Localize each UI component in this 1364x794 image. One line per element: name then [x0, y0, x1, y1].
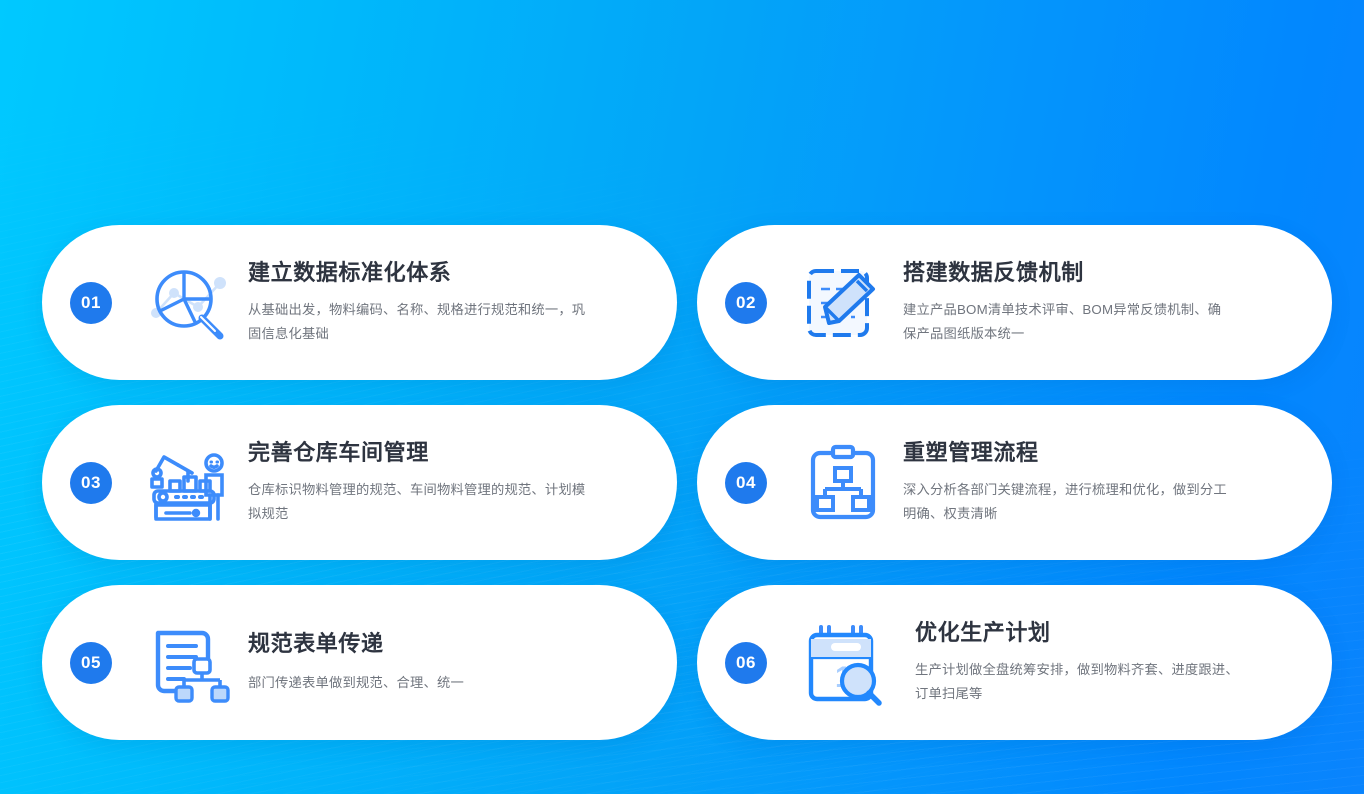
service-card-grid: 01 建立数据标准化体系 从基础出发，物料编码、 — [42, 225, 1332, 740]
service-card-01[interactable]: 01 建立数据标准化体系 从基础出发，物料编码、 — [42, 225, 677, 380]
service-card-02[interactable]: 02 搭建数据反馈机制 建立产品BOM清单技术评审、BOM异常反馈机制、确保产品… — [697, 225, 1332, 380]
card-number-badge: 01 — [70, 282, 112, 324]
card-text-block: 建立数据标准化体系 从基础出发，物料编码、名称、规格进行规范和统一，巩固信息化基… — [248, 259, 677, 346]
clipboard-flowchart-icon — [789, 431, 897, 535]
card-description: 深入分析各部门关键流程，进行梳理和优化，做到分工明确、权责清晰 — [903, 478, 1233, 526]
card-description: 部门传递表单做到规范、合理、统一 — [248, 671, 588, 695]
document-flowchart-icon — [134, 611, 242, 715]
service-card-06[interactable]: 06 11 优化生产计划 生产计划做全盘统筹安排，做到物料齐套、进度跟进、订单扫… — [697, 585, 1332, 740]
service-card-03[interactable]: 03 — [42, 405, 677, 560]
card-description: 生产计划做全盘统筹安排，做到物料齐套、进度跟进、订单扫尾等 — [915, 658, 1245, 706]
service-card-04[interactable]: 04 重塑管理流程 深入分析各部门关键流程，进行梳理和优化，做到分工明确、权责清… — [697, 405, 1332, 560]
card-title: 重塑管理流程 — [903, 439, 1298, 468]
service-card-05[interactable]: 05 规范表单传递 部门传递表单做到规范、合理、统一 — [42, 585, 677, 740]
document-pencil-icon — [789, 251, 897, 355]
card-description: 仓库标识物料管理的规范、车间物料管理的规范、计划模拟规范 — [248, 478, 588, 526]
pie-chart-magnifier-icon — [134, 251, 242, 355]
card-title: 搭建数据反馈机制 — [903, 259, 1298, 288]
card-text-block: 搭建数据反馈机制 建立产品BOM清单技术评审、BOM异常反馈机制、确保产品图纸版… — [903, 259, 1332, 346]
card-description: 从基础出发，物料编码、名称、规格进行规范和统一，巩固信息化基础 — [248, 298, 588, 346]
card-description: 建立产品BOM清单技术评审、BOM异常反馈机制、确保产品图纸版本统一 — [903, 298, 1233, 346]
card-number-badge: 02 — [725, 282, 767, 324]
page-root: 价值服务 顺景始终坚持「管理顾问」与「软件应用」相结合的服务理念 全程价值服务，… — [0, 0, 1364, 794]
card-text-block: 重塑管理流程 深入分析各部门关键流程，进行梳理和优化，做到分工明确、权责清晰 — [903, 439, 1332, 526]
factory-assembly-line-icon — [134, 431, 242, 535]
calendar-magnifier-icon: 11 — [789, 611, 897, 715]
card-title: 完善仓库车间管理 — [248, 439, 643, 468]
card-number-badge: 04 — [725, 462, 767, 504]
card-text-block: 规范表单传递 部门传递表单做到规范、合理、统一 — [248, 630, 677, 695]
card-title: 规范表单传递 — [248, 630, 643, 659]
card-text-block: 完善仓库车间管理 仓库标识物料管理的规范、车间物料管理的规范、计划模拟规范 — [248, 439, 677, 526]
card-number-badge: 06 — [725, 642, 767, 684]
card-title: 建立数据标准化体系 — [248, 259, 643, 288]
card-number-badge: 03 — [70, 462, 112, 504]
card-text-block: 优化生产计划 生产计划做全盘统筹安排，做到物料齐套、进度跟进、订单扫尾等 — [915, 619, 1332, 706]
card-title: 优化生产计划 — [915, 619, 1298, 648]
card-number-badge: 05 — [70, 642, 112, 684]
